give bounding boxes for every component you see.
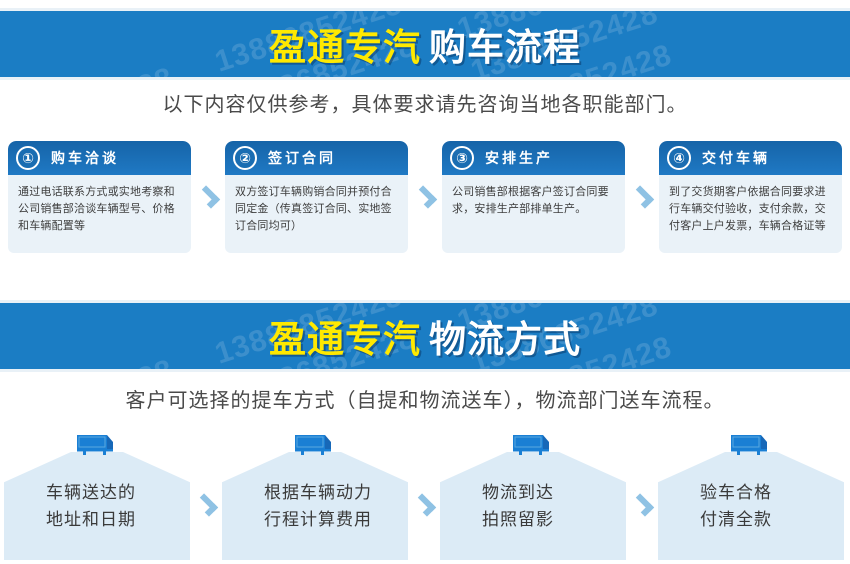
step-number-badge-3: ③ [450,146,474,170]
logistics-subtitle: 客户可选择的提车方式（自提和物流送车），物流部门送车流程。 [0,384,850,413]
logistics-steps-row: 车辆送达的 地址和日期 根据车辆动力 行程计算费用 [4,430,846,560]
step-title-3: 安排生产 [485,148,553,168]
step-body-3: 公司销售部根据客户签订合同要求，安排生产部排单生产。 [442,175,625,218]
logistics-line-2: 地址和日期 [46,506,190,533]
step-header-3: ③ 安排生产 [442,141,625,175]
logistics-line-2: 拍照留影 [482,506,626,533]
step-title-1: 购车洽谈 [51,148,119,168]
logistics-banner: 1388685242813886852428138868524281388685… [0,300,850,372]
logistics-arrow-1 [190,430,222,560]
logistics-line-2: 行程计算费用 [264,506,408,533]
chevron-right-icon [412,493,435,516]
step-header-2: ② 签订合同 [225,141,408,175]
logistics-card-4[interactable]: 验车合格 付清全款 [658,430,844,560]
purchase-steps-row: ① 购车洽谈 通过电话联系方式或实地考察和公司销售部洽谈车辆型号、价格和车辆配置… [8,141,842,256]
purchase-process-subtitle: 以下内容仅供参考，具体要求请先咨询当地各职能部门。 [0,88,850,117]
step-card-3[interactable]: ③ 安排生产 公司销售部根据客户签订合同要求，安排生产部排单生产。 [442,141,625,253]
step-arrow-3 [625,141,659,253]
chevron-right-icon [196,185,219,208]
step-number-badge-2: ② [233,146,257,170]
step-arrow-1 [191,141,225,253]
step-body-1: 通过电话联系方式或实地考察和公司销售部洽谈车辆型号、价格和车辆配置等 [8,175,191,235]
step-title-4: 交付车辆 [702,148,770,168]
truck-icon [729,432,773,458]
step-card-1[interactable]: ① 购车洽谈 通过电话联系方式或实地考察和公司销售部洽谈车辆型号、价格和车辆配置… [8,141,191,253]
chevron-right-icon [413,185,436,208]
logistics-card-text-3: 物流到达 拍照留影 [440,452,626,560]
logistics-card-2[interactable]: 根据车辆动力 行程计算费用 [222,430,408,560]
banner-brand-text: 盈通专汽 [269,17,421,71]
logistics-card-text-4: 验车合格 付清全款 [658,452,844,560]
chevron-right-icon [630,493,653,516]
step-body-2: 双方签订车辆购销合同并预付合同定金（传真签订合同、实地签订合同均可） [225,175,408,235]
truck-icon [75,432,119,458]
logistics-line-1: 验车合格 [700,479,844,506]
step-arrow-2 [408,141,442,253]
infographic-page: 1388685242813886852428138868524281388685… [0,0,850,564]
logistics-line-1: 车辆送达的 [46,479,190,506]
logistics-card-1[interactable]: 车辆送达的 地址和日期 [4,430,190,560]
logistics-arrow-3 [626,430,658,560]
banner-heading-text: 购车流程 [429,17,581,71]
logistics-line-1: 物流到达 [482,479,626,506]
truck-icon [511,432,555,458]
step-number-badge-1: ① [16,146,40,170]
chevron-right-icon [194,493,217,516]
logistics-card-text-2: 根据车辆动力 行程计算费用 [222,452,408,560]
banner-heading-text: 物流方式 [429,309,581,363]
step-card-2[interactable]: ② 签订合同 双方签订车辆购销合同并预付合同定金（传真签订合同、实地签订合同均可… [225,141,408,253]
chevron-right-icon [630,185,653,208]
step-title-2: 签订合同 [268,148,336,168]
banner-title-group: 盈通专汽 物流方式 [0,303,850,369]
logistics-arrow-2 [408,430,440,560]
banner-brand-text: 盈通专汽 [269,309,421,363]
banner-title-group: 盈通专汽 购车流程 [0,11,850,77]
logistics-line-2: 付清全款 [700,506,844,533]
step-number-badge-4: ④ [667,146,691,170]
truck-icon [293,432,337,458]
step-body-4: 到了交货期客户依据合同要求进行车辆交付验收，支付余款，交付客户上户发票，车辆合格… [659,175,842,235]
purchase-process-banner: 1388685242813886852428138868524281388685… [0,8,850,80]
logistics-card-3[interactable]: 物流到达 拍照留影 [440,430,626,560]
logistics-line-1: 根据车辆动力 [264,479,408,506]
step-header-1: ① 购车洽谈 [8,141,191,175]
logistics-card-text-1: 车辆送达的 地址和日期 [4,452,190,560]
step-card-4[interactable]: ④ 交付车辆 到了交货期客户依据合同要求进行车辆交付验收，支付余款，交付客户上户… [659,141,842,253]
step-header-4: ④ 交付车辆 [659,141,842,175]
